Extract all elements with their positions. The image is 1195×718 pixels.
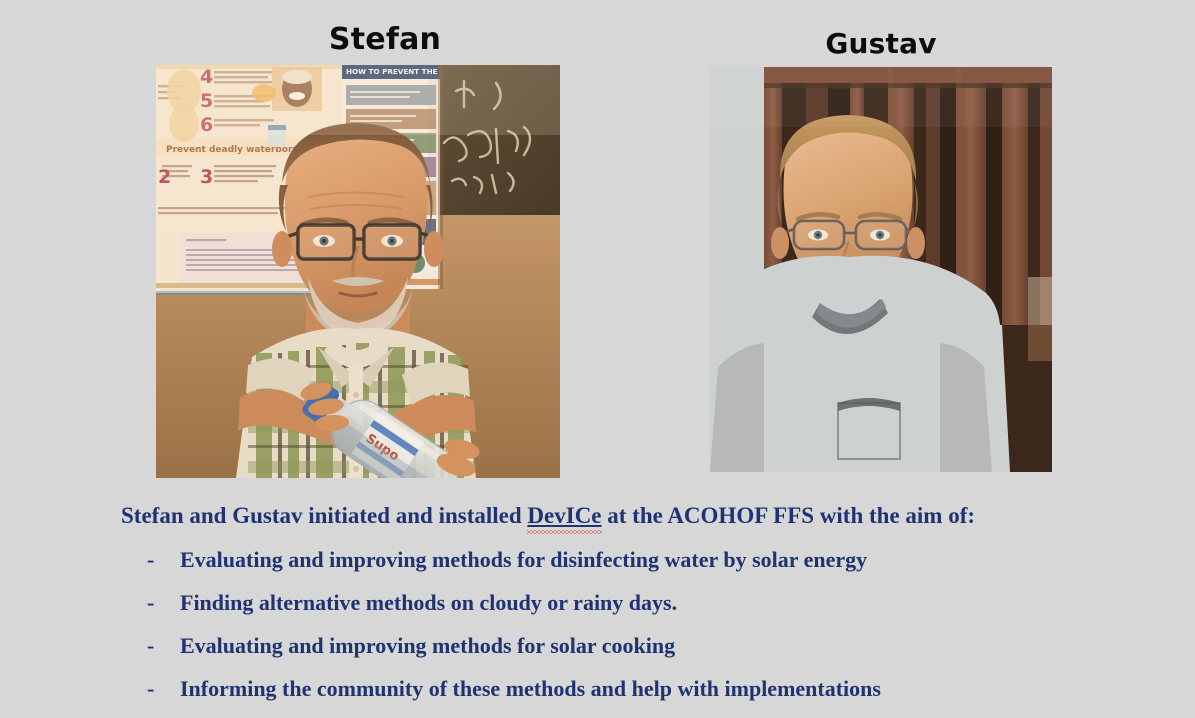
photo-gustav	[710, 67, 1052, 472]
portrait-photo-icon: Prevent deadly waterborne diseases 4 5 6…	[156, 65, 560, 478]
lead-sentence: Stefan and Gustav initiated and installe…	[121, 503, 975, 529]
device-term: DevICe	[527, 503, 601, 529]
bullet-marker: -	[147, 547, 180, 573]
portrait-photo-icon	[710, 67, 1052, 472]
list-item: - Evaluating and improving methods for d…	[147, 547, 867, 573]
list-item: - Informing the community of these metho…	[147, 676, 881, 702]
photo-title-stefan: Stefan	[0, 22, 770, 57]
list-item-label: Evaluating and improving methods for sol…	[180, 633, 675, 659]
list-item-label: Informing the community of these methods…	[180, 676, 881, 702]
bullet-marker: -	[147, 676, 180, 702]
list-item-label: Evaluating and improving methods for dis…	[180, 547, 867, 573]
bullet-marker: -	[147, 590, 180, 616]
lead-sentence-before: Stefan and Gustav initiated and installe…	[121, 503, 527, 528]
photo-stefan: Prevent deadly waterborne diseases 4 5 6…	[156, 65, 560, 478]
slide-canvas: Stefan Gustav	[0, 0, 1195, 718]
list-item: - Finding alternative methods on cloudy …	[147, 590, 677, 616]
lead-sentence-after: at the ACOHOF FFS with the aim of:	[602, 503, 976, 528]
bullet-marker: -	[147, 633, 180, 659]
list-item: - Evaluating and improving methods for s…	[147, 633, 675, 659]
photo-title-gustav: Gustav	[710, 27, 1052, 60]
list-item-label: Finding alternative methods on cloudy or…	[180, 590, 677, 616]
